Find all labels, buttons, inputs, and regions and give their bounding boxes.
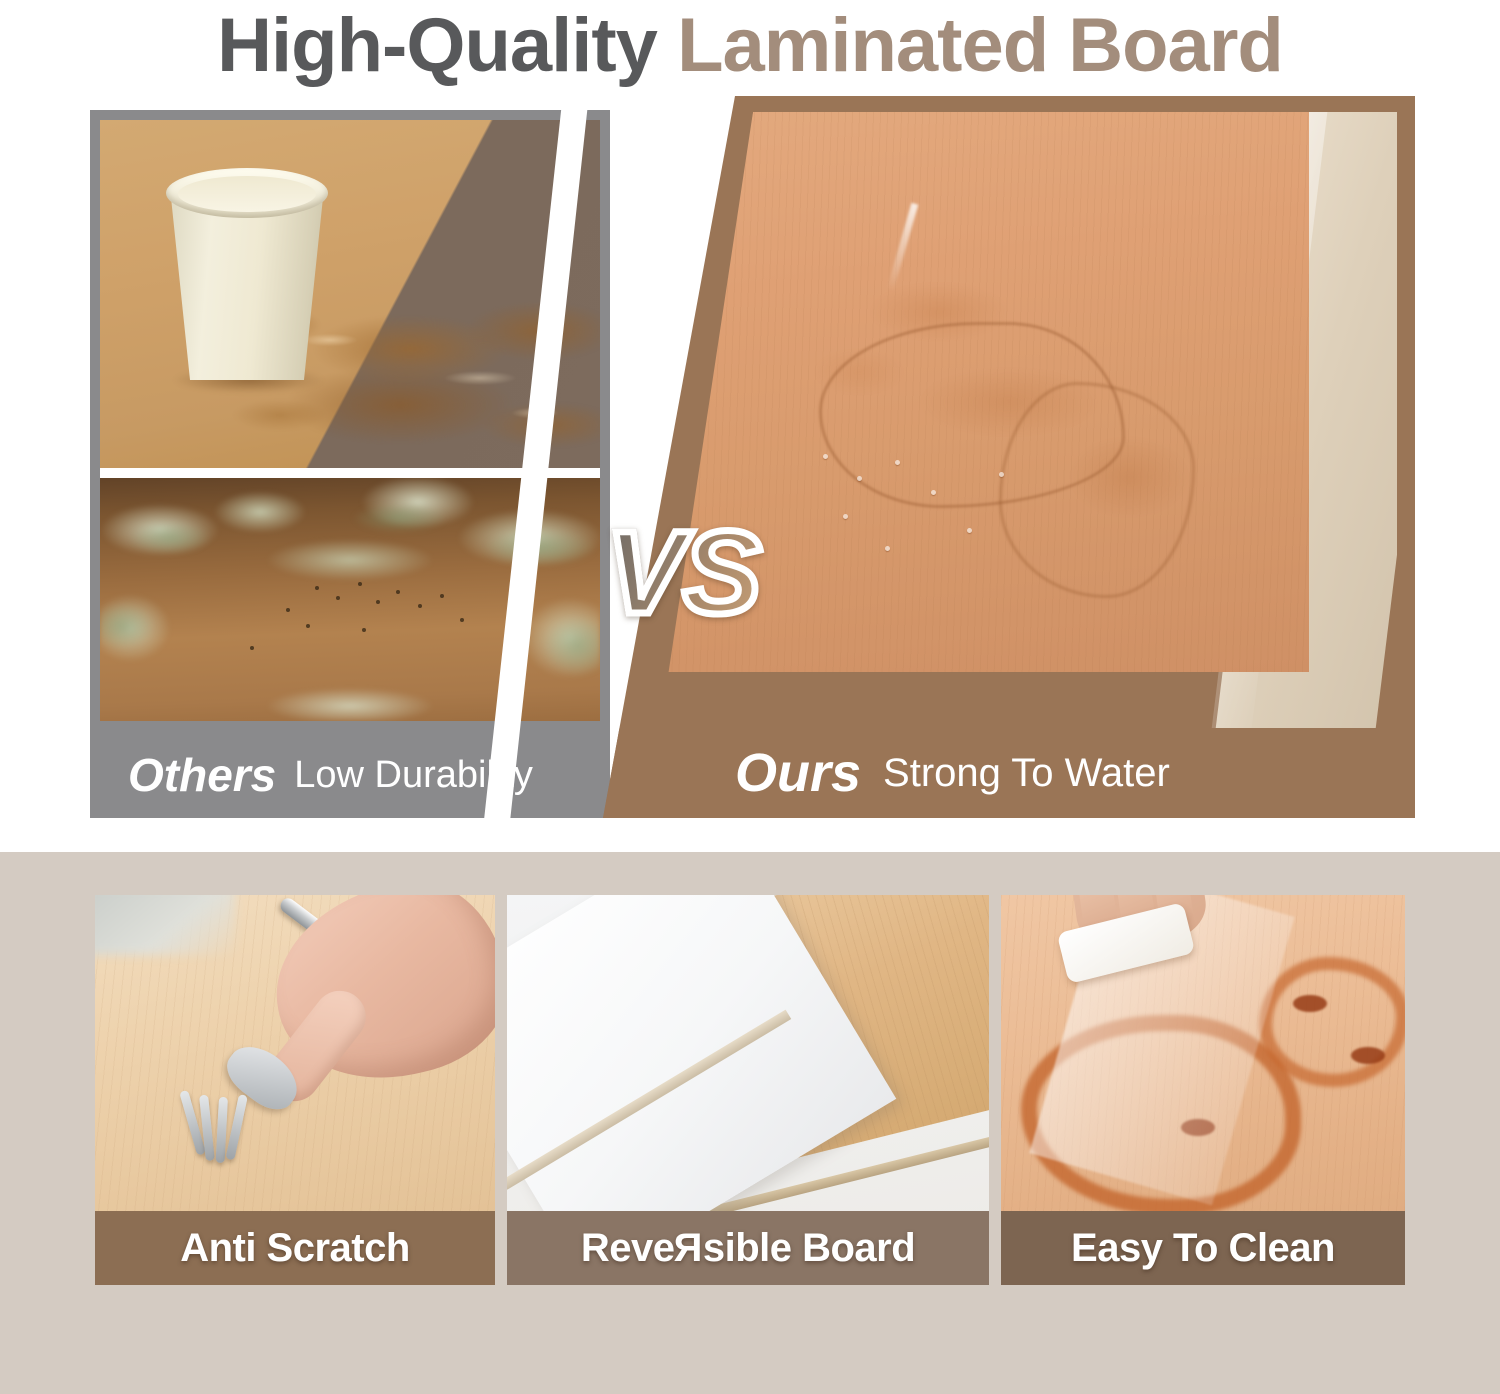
feature-label-easy-to-clean: Easy To Clean — [1001, 1211, 1405, 1285]
feature-label-text: Easy To Clean — [1071, 1228, 1335, 1268]
ours-caption-main: Ours — [735, 746, 861, 800]
others-spill-image — [100, 120, 600, 468]
cup-interior — [178, 176, 316, 212]
paper-cup-icon — [162, 162, 332, 382]
ours-water-image — [649, 112, 1397, 802]
feature-label-anti-scratch: Anti Scratch — [95, 1211, 495, 1285]
features-row: Anti Scratch ReveRsible Board — [95, 895, 1405, 1285]
others-caption-bar: Others Low Durability — [90, 732, 610, 818]
ours-caption-sub: Strong To Water — [883, 753, 1170, 793]
background-corner — [95, 895, 235, 955]
page-title: High-Quality Laminated Board — [217, 8, 1283, 84]
ours-caption-bar: Ours Strong To Water — [603, 728, 1415, 818]
feature-card-anti-scratch: Anti Scratch — [95, 895, 495, 1285]
flipped-r-glyph: R — [674, 1228, 702, 1268]
feature-card-easy-to-clean: Easy To Clean — [1001, 895, 1405, 1285]
feature-card-reversible-board: ReveRsible Board — [507, 895, 989, 1285]
vs-badge: VS — [606, 514, 759, 632]
page-title-secondary: Laminated Board — [677, 3, 1283, 88]
comparison-section: Others Low Durability Ours Strong To Wat… — [0, 96, 1500, 852]
others-caption-main: Others — [128, 752, 276, 798]
feature-label-text: ReveRsible Board — [581, 1228, 915, 1268]
feature-label-text: Anti Scratch — [180, 1228, 410, 1268]
sauce-blob — [1293, 995, 1327, 1012]
feature-label-reversible-board: ReveRsible Board — [507, 1211, 989, 1285]
sauce-stain-small — [1259, 957, 1405, 1087]
features-section: Anti Scratch ReveRsible Board — [0, 852, 1500, 1394]
ours-panel: Ours Strong To Water — [603, 96, 1415, 818]
sauce-blob — [1351, 1047, 1385, 1064]
page-title-primary: High-Quality — [217, 3, 677, 88]
page-header: High-Quality Laminated Board — [0, 0, 1500, 92]
water-droplets — [799, 442, 1029, 582]
